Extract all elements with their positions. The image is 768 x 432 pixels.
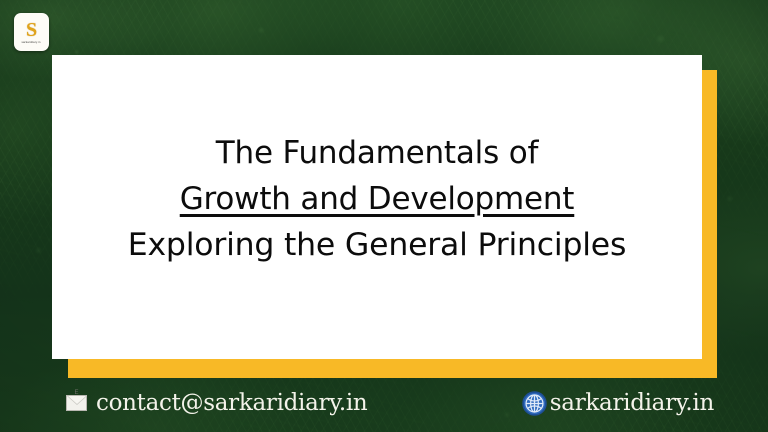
contact-email[interactable]: E contact@sarkaridiary.in (66, 390, 367, 416)
logo-monogram: S (26, 21, 37, 40)
white-content-card: The Fundamentals of Growth and Developme… (52, 55, 702, 359)
title-line-3: Exploring the General Principles (52, 222, 702, 268)
contact-email-text: contact@sarkaridiary.in (96, 390, 367, 416)
presentation-slide: S sarkaridiary.in The Fundamentals of Gr… (0, 0, 768, 432)
title-line-1: The Fundamentals of (52, 130, 702, 176)
website-link[interactable]: sarkaridiary.in (521, 390, 714, 417)
title-block: The Fundamentals of Growth and Developme… (52, 130, 702, 284)
envelope-icon: E (66, 395, 87, 411)
envelope-icon-letter: E (67, 390, 86, 396)
globe-icon (521, 390, 548, 417)
title-line-2: Growth and Development (52, 176, 702, 222)
website-link-text: sarkaridiary.in (550, 390, 714, 416)
footer-bar: E contact@sarkaridiary.in sarkaridiary.i… (0, 378, 768, 432)
logo-caption: sarkaridiary.in (22, 40, 41, 44)
sarkaridiary-logo[interactable]: S sarkaridiary.in (14, 13, 49, 51)
